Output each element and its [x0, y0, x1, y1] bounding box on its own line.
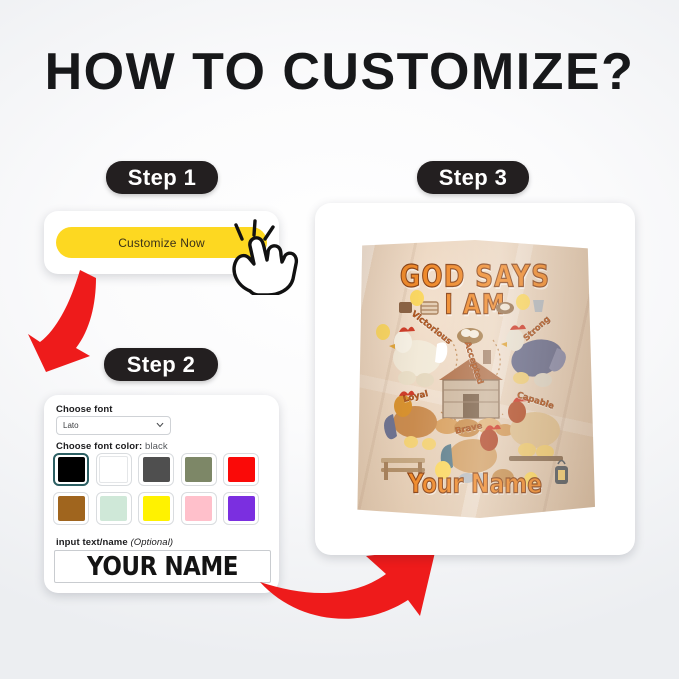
blanket-name-placeholder: Your Name	[355, 470, 595, 500]
color-swatch-row	[53, 492, 271, 525]
input-text-label-main: input text/name	[56, 537, 128, 548]
name-input-field[interactable]: YOUR NAME	[54, 550, 271, 583]
swatch-black[interactable]	[53, 453, 89, 486]
step-2-badge: Step 2	[104, 348, 218, 381]
blanket-trait-strong: Strong	[522, 314, 553, 343]
choose-color-text: Choose font color:	[56, 441, 142, 452]
name-input-value: YOUR NAME	[87, 552, 238, 581]
swatch-pink[interactable]	[181, 492, 217, 525]
step-3-badge: Step 3	[417, 161, 529, 194]
blanket-trait-accepted: Accepted	[462, 340, 485, 385]
swatch-brown[interactable]	[53, 492, 89, 525]
swatch-purple[interactable]	[223, 492, 259, 525]
swatch-mint[interactable]	[96, 492, 132, 525]
step-2-card: Choose font Lato Choose font color: blac…	[44, 395, 279, 593]
blanket-design: GOD SAYS I AM	[355, 240, 595, 518]
choose-color-label: Choose font color: black	[56, 441, 168, 452]
product-blanket-preview: GOD SAYS I AM	[355, 240, 595, 518]
blanket-trait-capable: Capable	[515, 390, 555, 411]
swatch-white[interactable]	[96, 453, 132, 486]
color-swatch-grid	[53, 453, 271, 531]
swatch-yellow[interactable]	[138, 492, 174, 525]
blanket-trait-loyal: Loyal	[402, 389, 429, 405]
chevron-down-icon	[156, 421, 164, 429]
swatch-sage-green[interactable]	[181, 453, 217, 486]
step-1-badge: Step 1	[106, 161, 218, 194]
blanket-headline-line2: I AM	[355, 289, 595, 320]
page-title: HOW TO CUSTOMIZE?	[0, 42, 679, 102]
blanket-farm-illustration	[355, 240, 595, 518]
choose-color-value: black	[145, 441, 168, 452]
swatch-dark-gray[interactable]	[138, 453, 174, 486]
page-root: HOW TO CUSTOMIZE? Step 1 Customize Now S…	[0, 0, 679, 679]
blanket-trait-brave: Brave	[454, 421, 483, 437]
swatch-red[interactable]	[223, 453, 259, 486]
color-swatch-row	[53, 453, 271, 486]
font-select[interactable]: Lato	[56, 416, 171, 435]
customize-now-button[interactable]: Customize Now	[56, 227, 267, 258]
input-text-label: input text/name (Optional)	[56, 537, 173, 548]
blanket-headline-line1: GOD SAYS	[355, 259, 595, 294]
step-1-card: Customize Now	[44, 211, 279, 274]
font-select-value: Lato	[57, 421, 79, 430]
choose-font-label: Choose font	[56, 404, 113, 415]
blanket-trait-victorious: Victorious	[409, 309, 453, 347]
step-3-card: GOD SAYS I AM	[315, 203, 635, 555]
input-text-label-optional: (Optional)	[130, 537, 173, 548]
